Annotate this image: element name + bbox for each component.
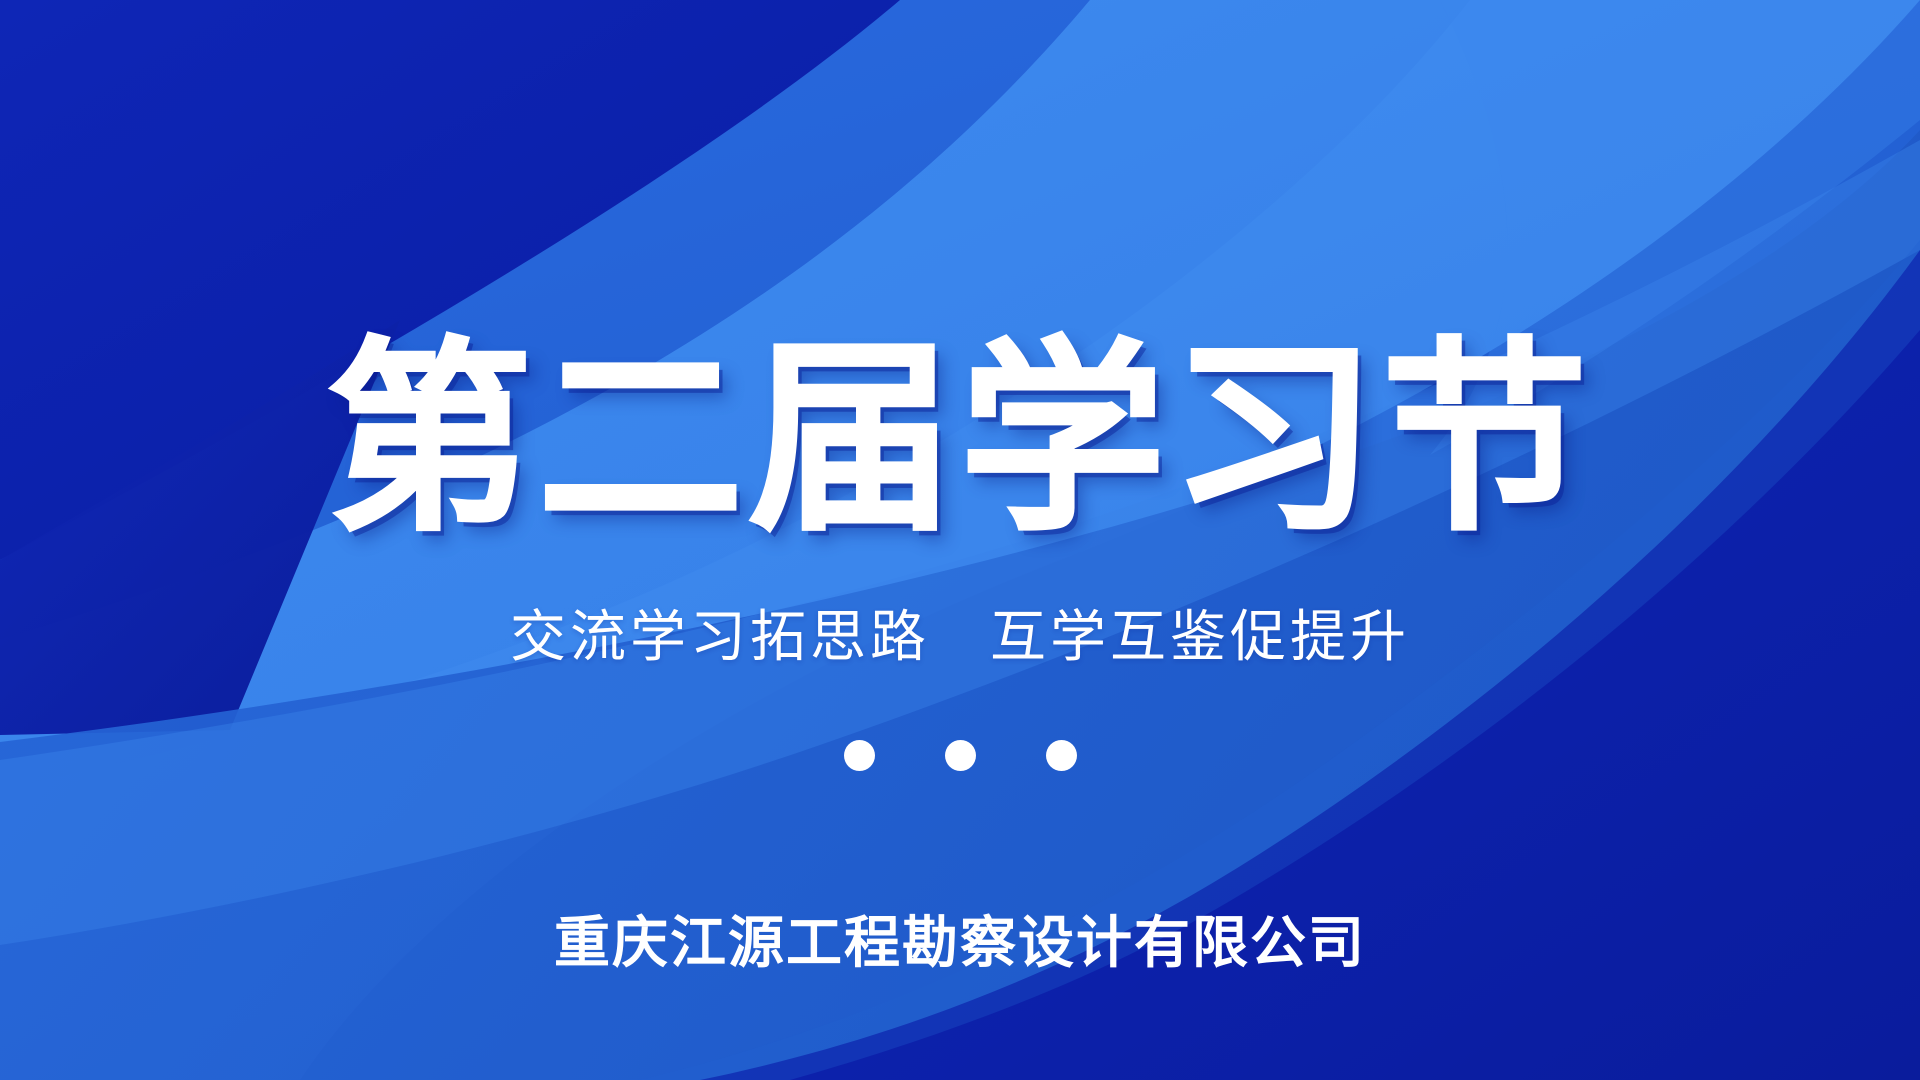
event-poster: 第二届学习节 交流学习拓思路 互学互鉴促提升 重庆江源工程勘察设计有限公司 bbox=[0, 0, 1920, 1080]
poster-subtitle: 交流学习拓思路 互学互鉴促提升 bbox=[0, 604, 1920, 671]
decorative-dot-icon bbox=[945, 740, 976, 771]
poster-content: 第二届学习节 交流学习拓思路 互学互鉴促提升 重庆江源工程勘察设计有限公司 bbox=[0, 0, 1920, 1080]
dot-decoration bbox=[0, 740, 1920, 771]
decorative-dot-icon bbox=[844, 740, 875, 771]
decorative-dot-icon bbox=[1046, 740, 1077, 771]
page-title: 第二届学习节 bbox=[0, 338, 1920, 543]
company-name: 重庆江源工程勘察设计有限公司 bbox=[0, 910, 1920, 977]
